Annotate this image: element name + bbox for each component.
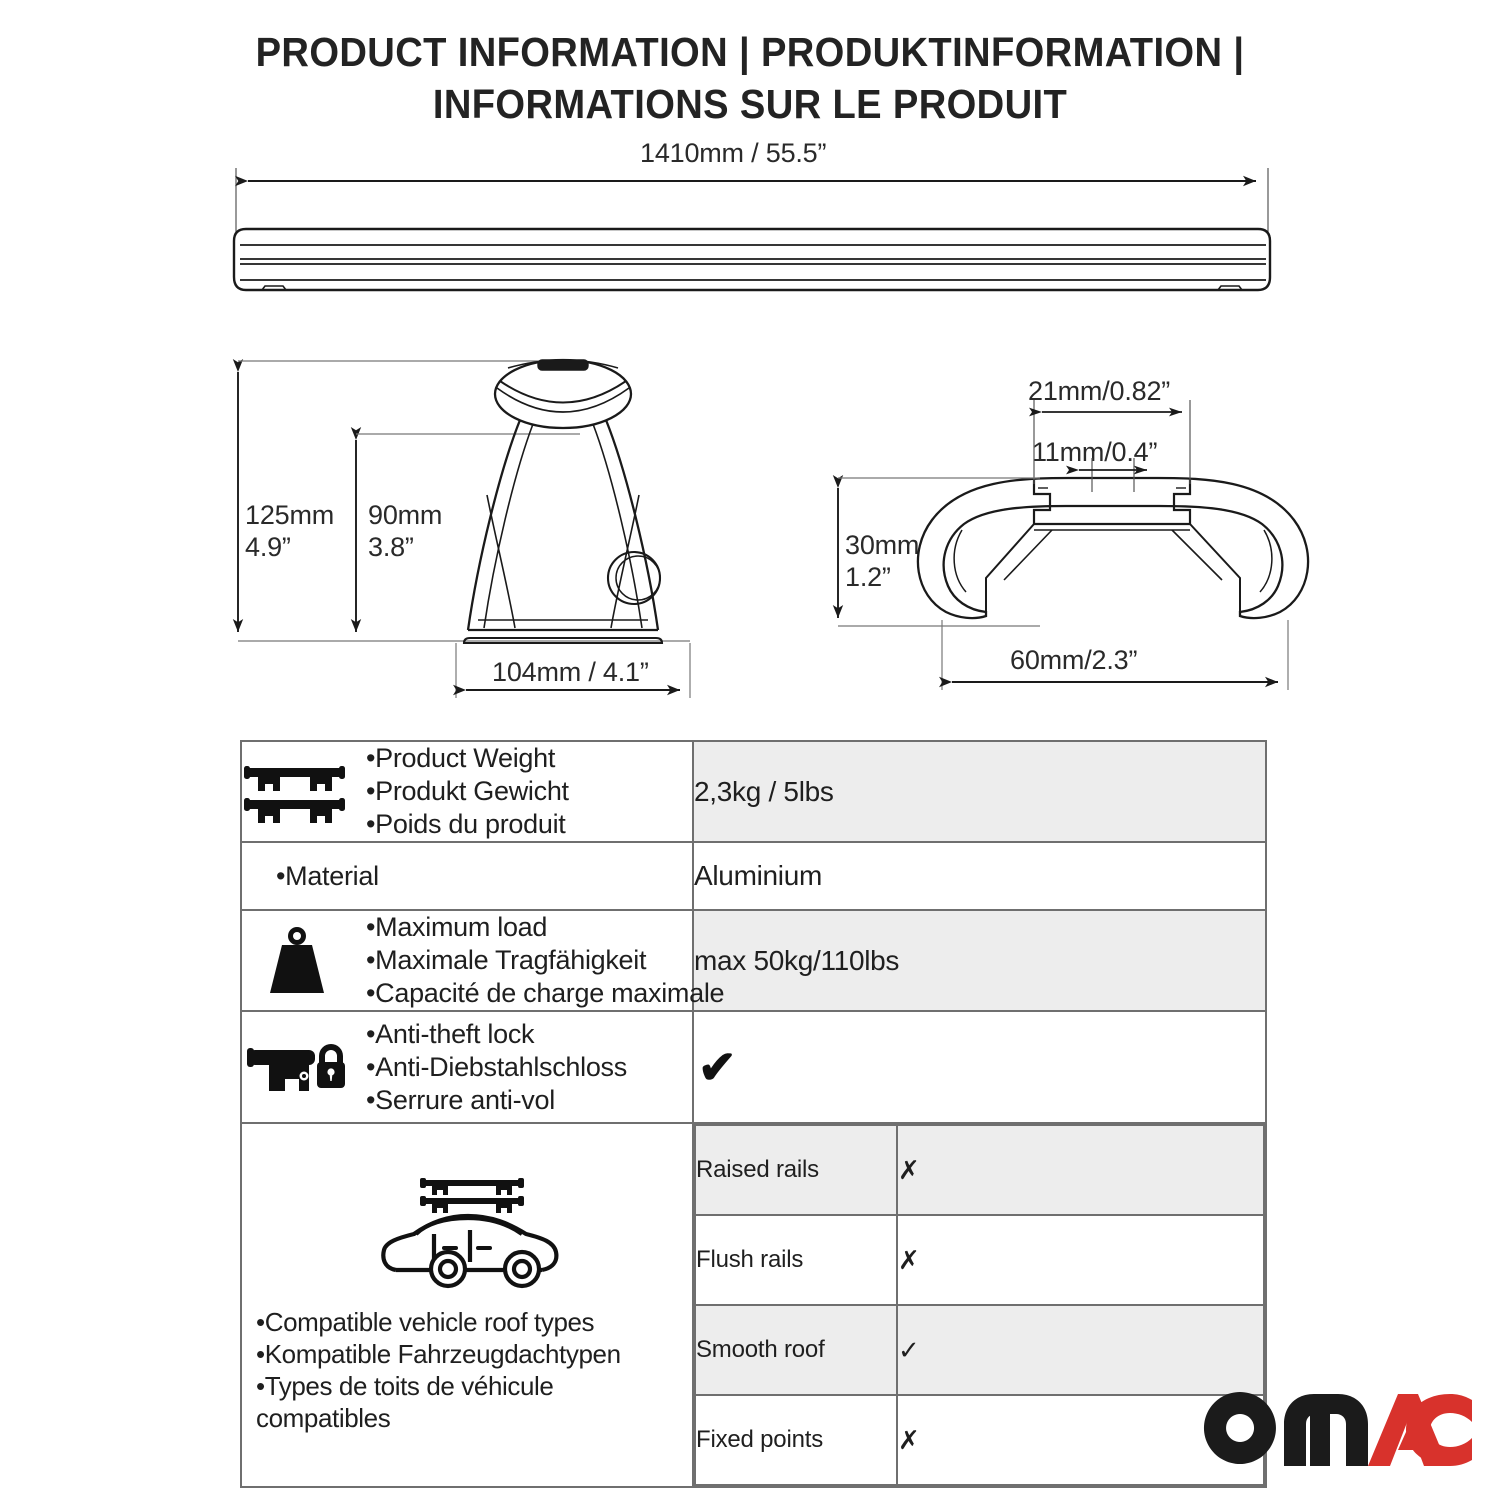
maxload-label-cell: •Maximum load •Maximale Tragfähigkeit •C… (241, 910, 693, 1011)
weight-block-icon (242, 925, 352, 997)
material-label-cell: •Material (241, 842, 693, 910)
roof-type-value: ✗ (897, 1215, 1264, 1305)
bullet-line: •Maximale Tragfähigkeit (366, 945, 646, 975)
bullet-line: •Material (276, 861, 379, 891)
antitheft-bullets: •Anti-theft lock •Anti-Diebstahlschloss … (366, 1018, 627, 1117)
material-value: Aluminium (693, 842, 1266, 910)
lock-icon (242, 1036, 352, 1098)
product-spec-table: •Product Weight •Produkt Gewicht •Poids … (240, 740, 1267, 1488)
bullet-line: •Capacité de charge maximale (366, 978, 724, 1008)
weight-value: 2,3kg / 5lbs (693, 741, 1266, 842)
table-row: •Maximum load •Maximale Tragfähigkeit •C… (241, 910, 1266, 1011)
roof-type-row: Smooth roof ✓ (695, 1305, 1264, 1395)
tower-height-inner-in: 3.8” (368, 532, 414, 563)
logo-letter-m (1284, 1394, 1368, 1466)
crossbars-icon (242, 759, 352, 825)
bullet-line: •Serrure anti-vol (366, 1085, 555, 1115)
weight-label-cell: •Product Weight •Produkt Gewicht •Poids … (241, 741, 693, 842)
table-row: •Material Aluminium (241, 842, 1266, 910)
profile-height-mm: 30mm (845, 530, 919, 561)
profile-height-in: 1.2” (845, 562, 891, 593)
tower-height-total-in: 4.9” (245, 532, 291, 563)
logo-letter-o (1204, 1392, 1276, 1464)
roof-type-row: Flush rails ✗ (695, 1215, 1264, 1305)
roof-type-name: Smooth roof (695, 1305, 897, 1395)
omac-logo (1202, 1390, 1472, 1468)
profile-slot-outer-label: 21mm/0.82” (1028, 376, 1170, 407)
title-line-2: INFORMATIONS SUR LE PRODUIT (53, 78, 1448, 130)
roof-type-name: Raised rails (695, 1125, 897, 1215)
roof-type-row: Fixed points ✗ (695, 1395, 1264, 1485)
material-bullets: •Material (276, 860, 379, 893)
title-line-1: PRODUCT INFORMATION | PRODUKTINFORMATION… (53, 26, 1448, 78)
roof-types-cell: Raised rails ✗ Flush rails ✗ Smooth roof… (693, 1123, 1266, 1487)
antitheft-label-cell: •Anti-theft lock •Anti-Diebstahlschloss … (241, 1011, 693, 1123)
profile-slot-inner-label: 11mm/0.4” (1032, 437, 1157, 468)
roof-type-name: Fixed points (695, 1395, 897, 1485)
table-row: •Anti-theft lock •Anti-Diebstahlschloss … (241, 1011, 1266, 1123)
tower-height-inner-mm: 90mm (368, 500, 442, 531)
table-row: •Compatible vehicle roof types •Kompatib… (241, 1123, 1266, 1487)
bullet-line: compatibles (256, 1403, 390, 1433)
bullet-line: •Maximum load (366, 912, 547, 942)
roof-type-name: Flush rails (695, 1215, 897, 1305)
bar-length-label: 1410mm / 55.5” (640, 138, 826, 169)
bullet-line: •Produkt Gewicht (366, 776, 569, 806)
bullet-line: •Kompatible Fahrzeugdachtypen (256, 1339, 621, 1369)
weight-bullets: •Product Weight •Produkt Gewicht •Poids … (366, 742, 569, 841)
vehicle-bullets: •Compatible vehicle roof types •Kompatib… (256, 1306, 684, 1434)
maxload-value: max 50kg/110lbs (693, 910, 1266, 1011)
roof-type-value: ✗ (897, 1125, 1264, 1215)
car-with-roofbars-icon (370, 1172, 570, 1292)
bullet-line: •Product Weight (366, 743, 555, 773)
page-title: PRODUCT INFORMATION | PRODUKTINFORMATION… (0, 26, 1500, 130)
profile-width-label: 60mm/2.3” (1010, 645, 1137, 676)
bullet-line: •Compatible vehicle roof types (256, 1307, 594, 1337)
checkmark-icon: ✔ (694, 1036, 736, 1098)
vehicle-label-cell: •Compatible vehicle roof types •Kompatib… (241, 1123, 693, 1487)
bullet-line: •Types de toits de véhicule (256, 1371, 553, 1401)
tower-height-total-mm: 125mm (245, 500, 334, 531)
bullet-line: •Poids du produit (366, 809, 565, 839)
tower-width-label: 104mm / 4.1” (492, 657, 649, 688)
table-row: •Product Weight •Produkt Gewicht •Poids … (241, 741, 1266, 842)
roof-type-value: ✓ (897, 1305, 1264, 1395)
maxload-bullets: •Maximum load •Maximale Tragfähigkeit •C… (366, 911, 724, 1010)
bullet-line: •Anti-Diebstahlschloss (366, 1052, 627, 1082)
antitheft-value-cell: ✔ (693, 1011, 1266, 1123)
omac-logo-mark (1202, 1390, 1472, 1468)
bullet-line: •Anti-theft lock (366, 1019, 534, 1049)
roof-types-table: Raised rails ✗ Flush rails ✗ Smooth roof… (694, 1124, 1265, 1486)
roof-type-row: Raised rails ✗ (695, 1125, 1264, 1215)
